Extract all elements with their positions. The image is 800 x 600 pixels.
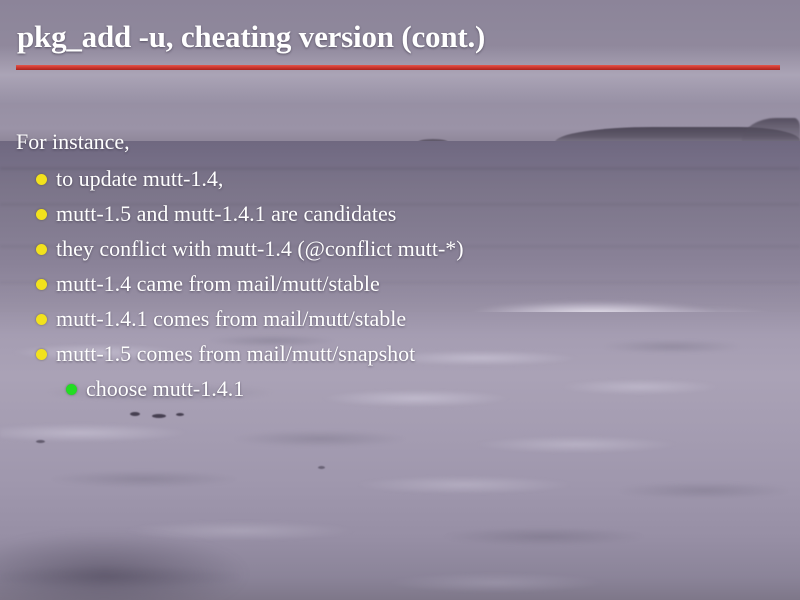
list-item: mutt-1.4.1 comes from mail/mutt/stable — [36, 301, 800, 336]
list-item-label: mutt-1.4.1 comes from mail/mutt/stable — [56, 306, 406, 331]
list-item-label: they conflict with mutt-1.4 (@conflict m… — [56, 236, 464, 261]
slide-title: pkg_add -u, cheating version (cont.) — [17, 19, 485, 55]
slide-content: pkg_add -u, cheating version (cont.) For… — [0, 0, 800, 600]
presentation-slide: pkg_add -u, cheating version (cont.) For… — [0, 0, 800, 600]
list-item: mutt-1.5 and mutt-1.4.1 are candidates — [36, 196, 800, 231]
yellow-dot-bullet-icon — [36, 314, 47, 325]
list-item-label: mutt-1.5 and mutt-1.4.1 are candidates — [56, 201, 396, 226]
list-item: they conflict with mutt-1.4 (@conflict m… — [36, 231, 800, 266]
yellow-dot-bullet-icon — [36, 244, 47, 255]
list-item: mutt-1.4 came from mail/mutt/stable — [36, 266, 800, 301]
list-item: mutt-1.5 comes from mail/mutt/snapshot — [36, 336, 800, 371]
list-item-label: to update mutt-1.4, — [56, 166, 223, 191]
yellow-dot-bullet-icon — [36, 279, 47, 290]
list-item-label: mutt-1.4 came from mail/mutt/stable — [56, 271, 380, 296]
green-dot-bullet-icon — [66, 384, 77, 395]
list-item: to update mutt-1.4, — [36, 161, 800, 196]
list-item-label: choose mutt-1.4.1 — [86, 376, 244, 401]
yellow-dot-bullet-icon — [36, 349, 47, 360]
yellow-dot-bullet-icon — [36, 174, 47, 185]
slide-body: For instance, to update mutt-1.4, mutt-1… — [0, 128, 800, 406]
bullet-list-level1: to update mutt-1.4, mutt-1.5 and mutt-1.… — [0, 161, 800, 371]
list-item-label: mutt-1.5 comes from mail/mutt/snapshot — [56, 341, 415, 366]
intro-text: For instance, — [16, 128, 800, 156]
title-underline-rule — [16, 65, 780, 70]
yellow-dot-bullet-icon — [36, 209, 47, 220]
bullet-list-level2: choose mutt-1.4.1 — [0, 371, 800, 406]
list-item: choose mutt-1.4.1 — [66, 371, 800, 406]
